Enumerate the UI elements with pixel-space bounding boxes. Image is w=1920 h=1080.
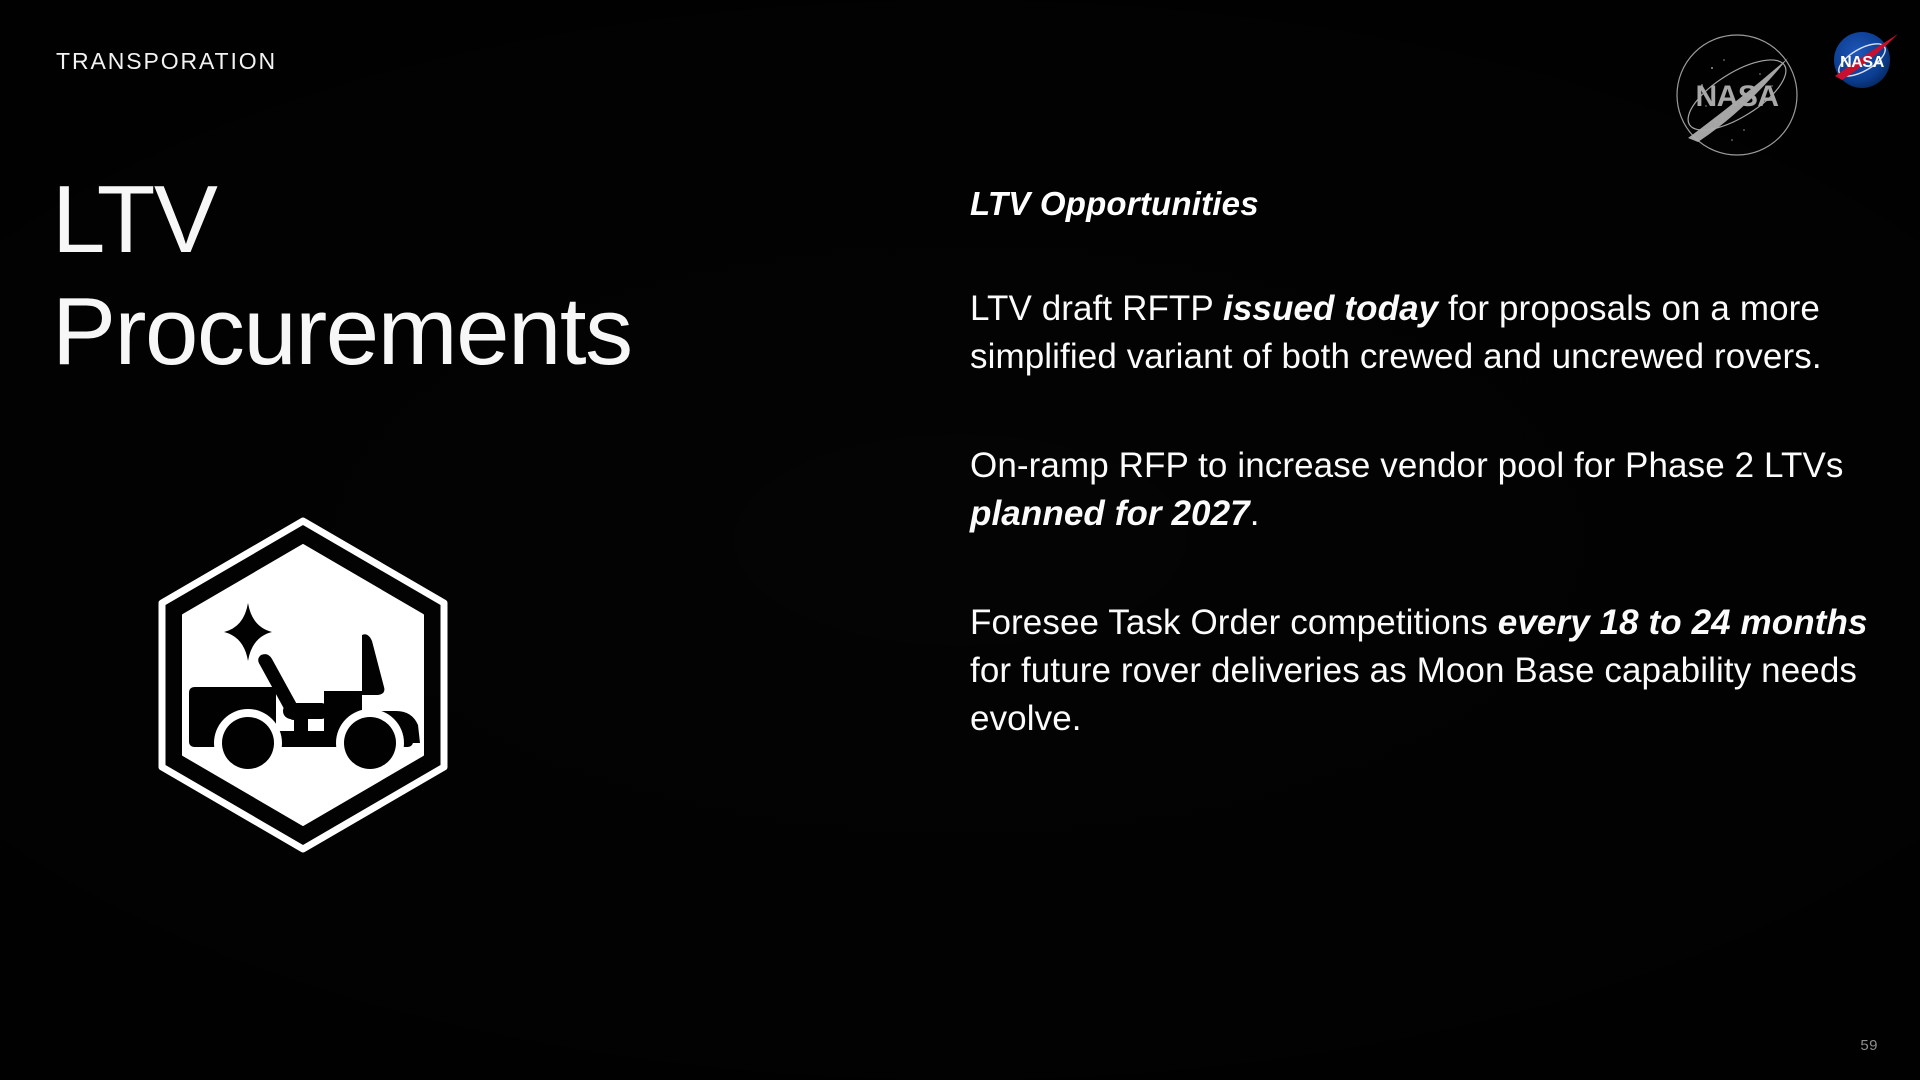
page-title: LTV Procurements: [52, 164, 812, 387]
emphasis-run: issued today: [1223, 289, 1438, 328]
text-run: Foresee Task Order competitions: [970, 603, 1498, 642]
text-run: for future rover deliveries as Moon Base…: [970, 651, 1857, 738]
paragraph-draft-rftp: LTV draft RFTP issued today for proposal…: [970, 285, 1890, 380]
page-title-line-1: LTV: [52, 164, 812, 275]
content-heading: LTV Opportunities: [970, 185, 1890, 223]
slide-kicker: TRANSPORATION: [56, 48, 277, 75]
emphasis-run: every 18 to 24 months: [1498, 603, 1868, 642]
emphasis-run: planned for 2027: [970, 494, 1250, 533]
nasa-insignia-watermark-icon: NASA: [1672, 30, 1802, 160]
slide-root: TRANSPORATION LTV Procurements: [0, 0, 1920, 1080]
page-title-line-2: Procurements: [52, 276, 812, 387]
page-number: 59: [1860, 1037, 1878, 1054]
nasa-meatball-logo-icon: NASA: [1826, 22, 1902, 98]
text-run: On-ramp RFP to increase vendor pool for …: [970, 446, 1843, 485]
content-column: LTV Opportunities LTV draft RFTP issued …: [970, 185, 1890, 742]
svg-text:NASA: NASA: [1695, 80, 1778, 113]
text-run: LTV draft RFTP: [970, 289, 1223, 328]
paragraph-on-ramp-rfp: On-ramp RFP to increase vendor pool for …: [970, 442, 1890, 537]
lunar-terrain-vehicle-badge-icon: [148, 515, 458, 855]
text-run: .: [1250, 494, 1260, 533]
paragraph-task-order-cadence: Foresee Task Order competitions every 18…: [970, 599, 1890, 742]
svg-text:NASA: NASA: [1840, 54, 1885, 71]
